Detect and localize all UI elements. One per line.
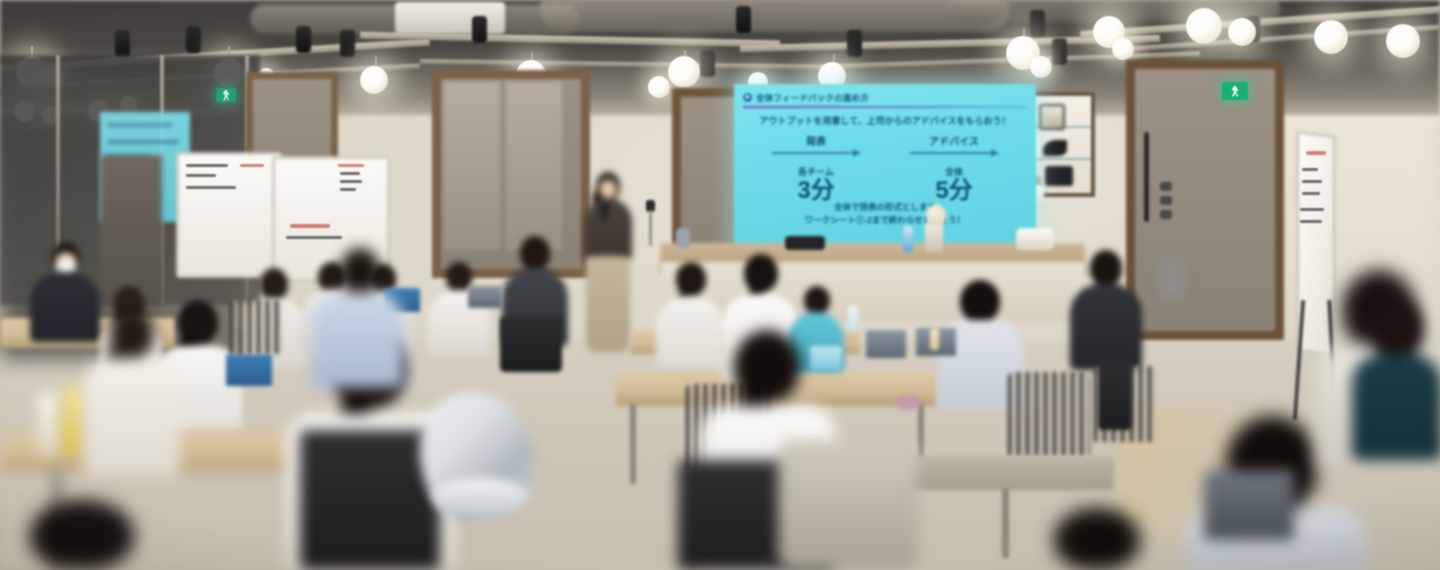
container-object [925, 222, 943, 252]
microphone-icon [601, 202, 608, 219]
track-spotlight-icon [847, 30, 862, 57]
track-spotlight-icon [296, 26, 311, 53]
track-spotlight-icon [115, 30, 130, 57]
chair[interactable] [500, 316, 562, 372]
sanitizer-bottle [903, 226, 913, 252]
pendant-light [1112, 38, 1134, 60]
duct-icon [540, 0, 1010, 32]
pendant-light [1186, 8, 1222, 44]
presenter [578, 172, 638, 352]
attendee-foreground [1024, 508, 1174, 570]
pendant-light [648, 76, 670, 98]
exit-sign-icon [216, 88, 236, 102]
foreground-equipment-base [432, 478, 528, 514]
slide-footer-line2: ワークシート①-2まで終わらせましょう！ [734, 214, 1036, 226]
drink-bottle [930, 328, 939, 350]
tray-object [785, 236, 825, 250]
track-spotlight-icon [186, 26, 201, 53]
pendant-light [1386, 24, 1420, 58]
pendant-light [1228, 18, 1256, 46]
attendee [1352, 300, 1440, 460]
track-spotlight-icon [472, 16, 487, 43]
slide-footer-line1: 全体で発表の形式とします [734, 201, 1036, 213]
projection-screen: 全体フィードバックの進め方 アウトプットを用意して、上司からのアドバイスをもらお… [734, 84, 1036, 250]
desk-object [896, 396, 920, 410]
face-mask-icon [56, 260, 76, 272]
column-title: 発表 [768, 133, 864, 148]
attendee-foreground [84, 308, 180, 478]
attendee [1068, 250, 1144, 370]
slide-columns: 発表 各チーム 3分 アドバイス 全体 5分 [734, 133, 1036, 203]
table-right [884, 456, 1114, 490]
door-panel-left[interactable] [444, 82, 500, 250]
laptop[interactable] [866, 330, 906, 358]
counter-object [676, 228, 690, 248]
track-spotlight-icon [1052, 38, 1067, 65]
track-spotlight-icon [1030, 10, 1045, 37]
chair[interactable] [230, 300, 282, 354]
attendee [312, 248, 404, 388]
whiteboard-left [176, 152, 282, 278]
slide-lead-text: アウトプットを用意して、上司からのアドバイスをもらおう！ [734, 114, 1036, 127]
laptop[interactable] [226, 354, 272, 386]
slide-header-rule [743, 106, 1027, 108]
ceiling-projector [395, 2, 505, 34]
door-panel-right[interactable] [506, 82, 562, 250]
slide-column-advice: アドバイス 全体 5分 [906, 133, 1002, 203]
basket-object [1016, 228, 1054, 250]
arrow-icon [910, 152, 998, 154]
laptop[interactable] [468, 286, 502, 308]
track-spotlight-icon [340, 30, 355, 57]
column-duration: 3分 [768, 179, 864, 203]
wall-switch-icon[interactable] [1160, 210, 1172, 219]
slide-footer: 全体で発表の形式とします ワークシート①-2まで終わらせましょう！ [734, 201, 1036, 226]
wall-switch-icon[interactable] [1160, 182, 1172, 191]
column-title: アドバイス [906, 133, 1002, 148]
chair[interactable] [1008, 372, 1090, 456]
lamp-object [926, 204, 946, 226]
laptop[interactable] [1204, 470, 1294, 540]
bag-or-attendee [778, 440, 918, 570]
wall-switch-icon[interactable] [1160, 196, 1172, 205]
water-bottle [38, 392, 58, 454]
exit-sign-icon [1222, 82, 1248, 100]
attendee-foreground [0, 500, 170, 570]
play-bullet-icon [743, 93, 752, 102]
trash-bin [1160, 256, 1184, 298]
mic-stand-pole [649, 210, 652, 246]
right-doorway[interactable] [1126, 60, 1284, 340]
stool[interactable] [1098, 360, 1132, 430]
pendant-light [1314, 20, 1348, 54]
arrow-icon [772, 152, 860, 154]
tea-bottle [62, 386, 84, 454]
track-spotlight-icon [736, 6, 751, 33]
column-duration: 5分 [906, 179, 1002, 203]
track-spotlight-icon [700, 50, 715, 77]
water-bottle [848, 306, 858, 332]
workshop-room-photo: 全体フィードバックの進め方 アウトプットを用意して、上司からのアドバイスをもらお… [0, 0, 1440, 570]
pendant-light [668, 56, 700, 88]
door-edge [1144, 132, 1149, 222]
slide-header-text: 全体フィードバックの進め方 [756, 92, 869, 104]
glass-reflection-block [100, 155, 162, 305]
pendant-light [360, 66, 388, 94]
slide-header: 全体フィードバックの進め方 [743, 91, 1027, 104]
slide-column-presentation: 発表 各チーム 3分 [768, 133, 864, 203]
